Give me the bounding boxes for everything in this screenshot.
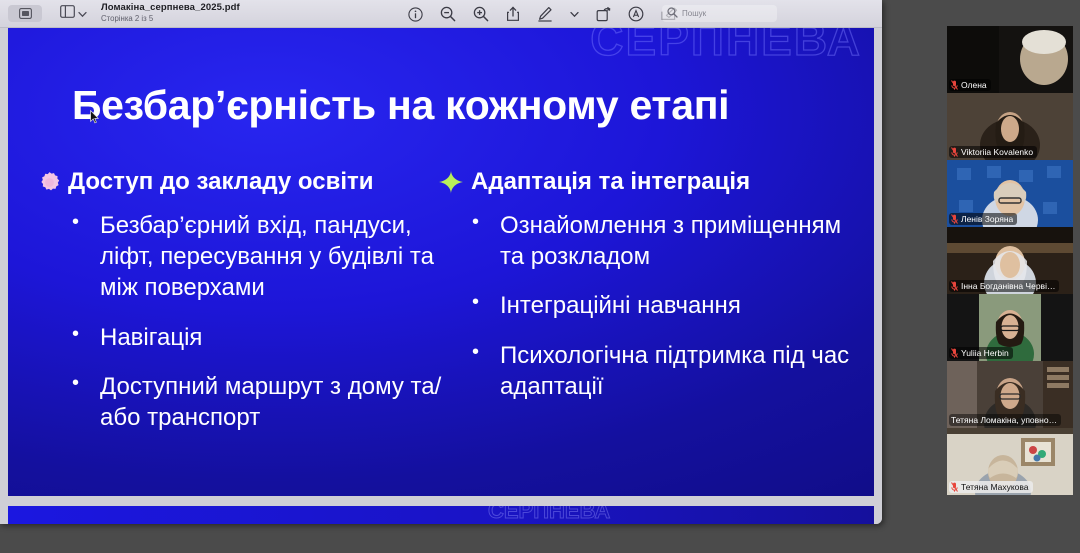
screen-root: Ломакіна_серпнева_2025.pdf Сторінка 2 із…: [0, 0, 1080, 553]
chevron-down-icon[interactable]: [570, 6, 579, 23]
mic-muted-icon: [951, 214, 958, 224]
page-view-icon: [60, 5, 75, 23]
slide-column-right: Адаптація та інтеграція Ознайомлення з п…: [438, 168, 858, 420]
search-icon: [667, 5, 678, 23]
chevron-down-icon: [78, 5, 87, 23]
slide-page: СЕРПНЕВА Безбар’єрність на кожному етапі…: [8, 28, 874, 496]
participant-name-badge: Інна Богданівна Черві…: [949, 280, 1059, 292]
green-sparkle-icon: [438, 169, 464, 195]
participant-tile[interactable]: Тетяна Махукова: [947, 428, 1073, 495]
participant-name: Ленів Зоряна: [961, 214, 1013, 224]
slide-column-left: Доступ до закладу освіти Безбар’єрний вх…: [38, 168, 458, 451]
list-item: Ознайомлення з приміщенням та розкладом: [464, 210, 858, 272]
pdf-viewer-window: Ломакіна_серпнева_2025.pdf Сторінка 2 із…: [0, 0, 882, 524]
mic-muted-icon: [951, 147, 958, 157]
mic-muted-icon: [951, 482, 958, 492]
participant-name: Viktoriia Kovalenko: [961, 147, 1033, 157]
column-heading-left-text: Доступ до закладу освіти: [68, 168, 374, 196]
participant-tile[interactable]: Viktoriia Kovalenko: [947, 93, 1073, 160]
zoom-out-icon[interactable]: [440, 6, 456, 23]
participant-name-badge: Ленів Зоряна: [949, 213, 1017, 225]
slide-watermark: СЕРПНЕВА: [590, 28, 862, 66]
markup-pen-icon[interactable]: [537, 6, 553, 23]
toolbar-tools: [408, 0, 678, 28]
participant-tile[interactable]: Ленів Зоряна: [947, 160, 1073, 227]
participant-tile[interactable]: Олена: [947, 26, 1073, 93]
share-icon[interactable]: [506, 6, 520, 23]
next-slide-preview[interactable]: СЕРПНЕВА: [8, 506, 874, 524]
bullet-list-left: Безбар’єрний вхід, пандуси, ліфт, пересу…: [64, 210, 458, 433]
list-item: Психологічна підтримка під час адаптації: [464, 340, 858, 402]
participant-name: Yuliia Herbin: [961, 348, 1009, 358]
document-filename: Ломакіна_серпнева_2025.pdf: [101, 3, 240, 14]
list-item: Доступний маршрут з дому та/або транспор…: [64, 371, 458, 433]
view-mode-control[interactable]: [60, 5, 87, 23]
pdf-toolbar: Ломакіна_серпнева_2025.pdf Сторінка 2 із…: [0, 0, 882, 28]
mic-muted-icon: [951, 348, 958, 358]
participant-tile-active-speaker[interactable]: Тетяна Ломакіна, уповно…: [947, 361, 1073, 428]
annotate-icon[interactable]: [628, 6, 644, 23]
participant-rail: Олена Viktoriia Kovalenko Ленів Зоряна І…: [947, 26, 1073, 495]
mic-muted-icon: [951, 281, 958, 291]
list-item: Навігація: [64, 322, 458, 353]
bullet-list-right: Ознайомлення з приміщенням та розкладом …: [464, 210, 858, 402]
search-input[interactable]: Пошук: [662, 5, 777, 22]
page-indicator: Сторінка 2 із 5: [101, 15, 240, 24]
participant-name: Олена: [961, 80, 987, 90]
column-heading-left: Доступ до закладу освіти: [38, 168, 458, 196]
sidebar-thumbnail-icon[interactable]: [8, 5, 42, 22]
mouse-cursor: [90, 110, 99, 124]
participant-name-badge: Yuliia Herbin: [949, 347, 1013, 359]
participant-name-badge: Тетяна Махукова: [949, 481, 1033, 493]
slide-title: Безбар’єрність на кожному етапі: [72, 82, 729, 129]
search-placeholder: Пошук: [682, 9, 706, 18]
rotate-icon[interactable]: [596, 6, 611, 23]
participant-name: Тетяна Махукова: [961, 482, 1029, 492]
column-heading-right-text: Адаптація та інтеграція: [471, 168, 750, 196]
mic-muted-icon: [951, 80, 958, 90]
participant-tile[interactable]: Інна Богданівна Черві…: [947, 227, 1073, 294]
participant-name: Інна Богданівна Черві…: [961, 281, 1055, 291]
list-item: Безбар’єрний вхід, пандуси, ліфт, пересу…: [64, 210, 458, 304]
participant-tile[interactable]: Yuliia Herbin: [947, 294, 1073, 361]
pink-flower-icon: [38, 171, 61, 194]
participant-name-badge: Viktoriia Kovalenko: [949, 146, 1037, 158]
participant-name-badge: Олена: [949, 79, 991, 91]
pdf-page-area[interactable]: СЕРПНЕВА Безбар’єрність на кожному етапі…: [0, 28, 882, 524]
zoom-in-icon[interactable]: [473, 6, 489, 23]
list-item: Інтеграційні навчання: [464, 290, 858, 321]
column-heading-right: Адаптація та інтеграція: [438, 168, 858, 196]
participant-name-badge: Тетяна Ломакіна, уповно…: [949, 414, 1061, 426]
document-title-block: Ломакіна_серпнева_2025.pdf Сторінка 2 із…: [101, 3, 240, 23]
next-slide-watermark: СЕРПНЕВА: [488, 506, 610, 524]
participant-name: Тетяна Ломакіна, уповно…: [951, 415, 1057, 425]
info-icon[interactable]: [408, 6, 423, 23]
